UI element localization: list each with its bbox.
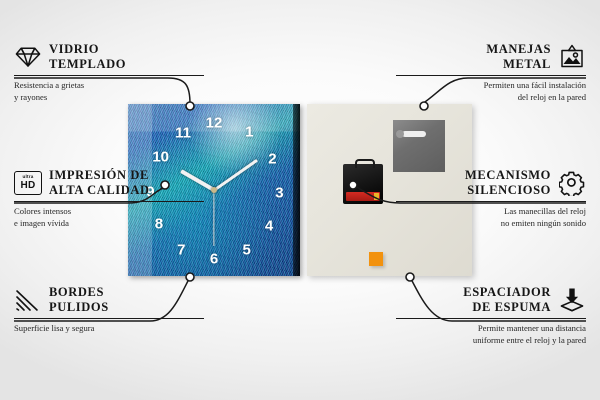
feature-header: ESPACIADOR DE ESPUMA bbox=[396, 285, 586, 315]
feature-manejas-metal[interactable]: MANEJAS METAL Permiten una fácil instala… bbox=[396, 42, 586, 103]
ultra-hd-badge-icon: ultra HD bbox=[14, 169, 42, 197]
feature-bordes-pulidos[interactable]: BORDES PULIDOS Superficie lisa y segura bbox=[14, 285, 204, 335]
feature-description: Permiten una fácil instalación del reloj… bbox=[396, 80, 586, 103]
feature-description: Colores intensos e imagen vívida bbox=[14, 206, 204, 229]
feature-header: MECANISMO SILENCIOSO bbox=[396, 168, 586, 198]
clock-numeral-12: 12 bbox=[206, 115, 223, 130]
clock-numeral-5: 5 bbox=[243, 243, 251, 258]
foam-spacer bbox=[369, 252, 383, 266]
infographic-canvas: 12 1 2 3 4 5 6 7 8 9 10 11 bbox=[0, 0, 600, 400]
clock-numeral-10: 10 bbox=[152, 150, 169, 165]
quartz-mechanism bbox=[343, 164, 383, 204]
foam-spacer-icon bbox=[558, 286, 586, 314]
feature-title: ESPACIADOR DE ESPUMA bbox=[463, 285, 551, 315]
feature-header: ultra HD IMPRESIÓN DE ALTA CALIDAD bbox=[14, 168, 204, 198]
clock-center-hub bbox=[211, 187, 217, 193]
feature-title: MECANISMO SILENCIOSO bbox=[465, 168, 551, 198]
clock-numeral-2: 2 bbox=[268, 152, 276, 167]
hd-label: HD bbox=[20, 181, 35, 191]
picture-hanger-icon bbox=[558, 43, 586, 71]
feature-espaciador-espuma[interactable]: ESPACIADOR DE ESPUMA Permite mantener un… bbox=[396, 285, 586, 346]
feature-header: BORDES PULIDOS bbox=[14, 285, 204, 315]
clock-numeral-11: 11 bbox=[175, 126, 191, 141]
feature-description: Superficie lisa y segura bbox=[14, 323, 204, 334]
metal-hanger-plate bbox=[393, 120, 445, 172]
feature-description: Permite mantener una distancia uniforme … bbox=[396, 323, 586, 346]
clock-numeral-1: 1 bbox=[245, 125, 253, 140]
feature-title: VIDRIO TEMPLADO bbox=[49, 42, 126, 72]
clock-second-hand bbox=[213, 190, 214, 246]
feature-divider bbox=[14, 75, 204, 76]
battery bbox=[346, 192, 380, 201]
hanger-keyhole-slot bbox=[402, 131, 426, 137]
clock-numeral-4: 4 bbox=[265, 219, 273, 234]
clock-minute-hand bbox=[213, 159, 257, 191]
feature-description: Resistencia a grietas y rayones bbox=[14, 80, 204, 103]
feature-vidrio-templado[interactable]: VIDRIO TEMPLADO Resistencia a grietas y … bbox=[14, 42, 204, 103]
clock-numeral-7: 7 bbox=[177, 243, 185, 258]
feature-divider bbox=[396, 318, 586, 319]
beveled-edge-icon bbox=[14, 286, 42, 314]
diamond-icon bbox=[14, 43, 42, 71]
clock-numeral-3: 3 bbox=[275, 186, 283, 201]
feature-divider bbox=[14, 318, 204, 319]
feature-mecanismo-silencioso[interactable]: MECANISMO SILENCIOSO Las manecillas del … bbox=[396, 168, 586, 229]
feature-description: Las manecillas del reloj no emiten ningú… bbox=[396, 206, 586, 229]
feature-divider bbox=[396, 75, 586, 76]
feature-header: VIDRIO TEMPLADO bbox=[14, 42, 204, 72]
clock-numeral-6: 6 bbox=[210, 251, 218, 266]
feature-divider bbox=[14, 201, 204, 202]
feature-divider bbox=[396, 201, 586, 202]
feature-title: IMPRESIÓN DE ALTA CALIDAD bbox=[49, 168, 150, 198]
feature-header: MANEJAS METAL bbox=[396, 42, 586, 72]
gear-icon bbox=[558, 169, 586, 197]
feature-title: MANEJAS METAL bbox=[486, 42, 551, 72]
feature-impresion-alta-calidad[interactable]: ultra HD IMPRESIÓN DE ALTA CALIDAD Color… bbox=[14, 168, 204, 229]
feature-title: BORDES PULIDOS bbox=[49, 285, 109, 315]
